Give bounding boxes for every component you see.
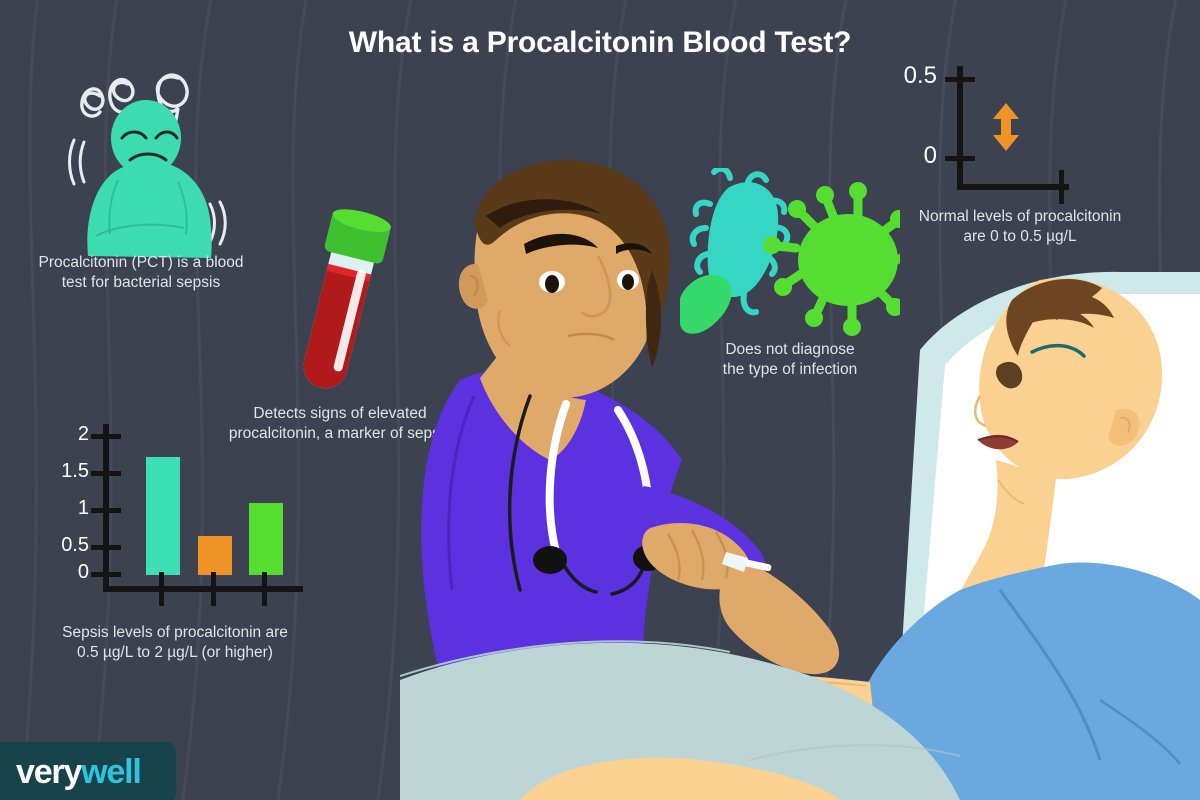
page-title: What is a Procalcitonin Blood Test? — [0, 26, 1200, 60]
logo-well-text: well — [81, 753, 140, 791]
chart-bar-1 — [146, 457, 180, 575]
sepsis-levels-chart: 2 1.5 1 0.5 0 — [55, 424, 305, 624]
chart-ytick-1p5 — [91, 471, 121, 476]
mini-ytick-0 — [945, 156, 975, 161]
logo-text: verywell — [16, 753, 141, 792]
chart-ylabel-1: 1 — [43, 498, 89, 518]
rod-bacterium-icon — [680, 275, 732, 334]
caption-bar-chart: Sepsis levels of procalcitonin are 0.5 µ… — [40, 623, 310, 663]
chart-ylabel-0p5: 0.5 — [43, 535, 89, 555]
stethoscope-chestpiece-left — [533, 546, 567, 574]
chart-ylabel-2: 2 — [43, 424, 89, 444]
blood-test-tube-icon — [280, 208, 400, 408]
verywell-logo[interactable]: verywell — [0, 742, 176, 800]
chart-ytick-0 — [91, 572, 121, 577]
chart-bar-2 — [198, 536, 232, 575]
mini-y-axis — [957, 66, 963, 190]
chart-ylabel-0: 0 — [43, 562, 89, 582]
chart-ytick-0p5 — [91, 545, 121, 550]
caption-mini-chart: Normal levels of procalcitonin are 0 to … — [905, 207, 1135, 247]
mini-ylabel-0p5: 0.5 — [887, 62, 937, 90]
shivering-sick-person-icon — [60, 58, 270, 258]
infographic-canvas: What is a Procalcitonin Blood Test? — [0, 0, 1200, 800]
chart-xtick-2 — [211, 572, 216, 606]
chart-xtick-3 — [262, 572, 267, 606]
chart-x-axis — [103, 586, 303, 592]
germs-group — [680, 168, 900, 338]
chart-xtick-1 — [159, 572, 164, 606]
mini-ylabel-0: 0 — [887, 142, 937, 170]
caption-sick-person: Procalcitonin (PCT) is a blood test for … — [18, 253, 264, 293]
mini-xtick — [1059, 170, 1064, 204]
mini-ytick-0p5 — [945, 77, 975, 82]
logo-very-text: very — [16, 753, 81, 791]
caption-germs: Does not diagnose the type of infection — [690, 340, 890, 380]
normal-levels-chart: 0.5 0 — [905, 66, 1095, 206]
chart-ytick-1 — [91, 508, 121, 513]
chart-ylabel-1p5: 1.5 — [43, 461, 89, 481]
mini-x-axis — [957, 184, 1069, 190]
chart-ytick-2 — [91, 434, 121, 439]
double-headed-arrow-icon — [988, 101, 1024, 153]
chart-bar-3 — [249, 503, 283, 575]
